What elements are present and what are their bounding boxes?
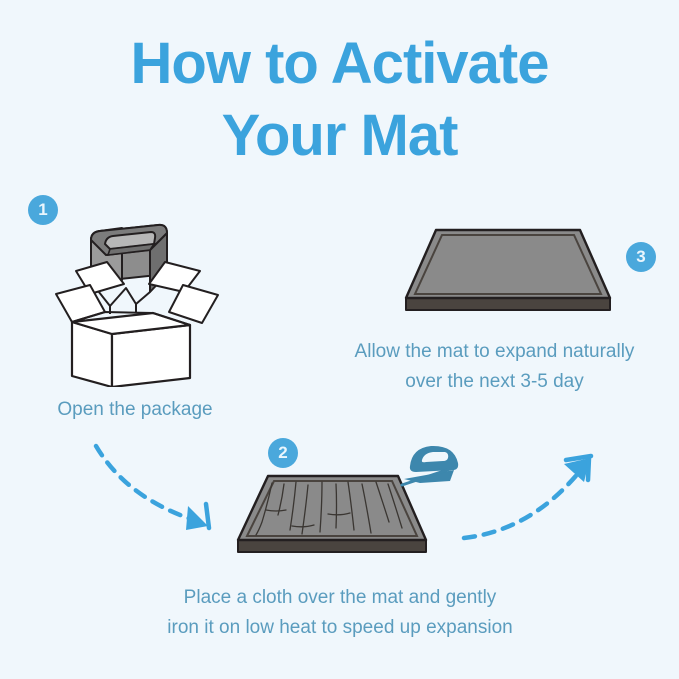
- arrow-step1-to-step2: [88, 438, 228, 553]
- title-line-1: How to Activate: [0, 28, 679, 100]
- step-2-caption-line-2: iron it on low heat to speed up expansio…: [80, 613, 600, 643]
- expanded-mat-illustration: [398, 222, 618, 327]
- step-badge-1: 1: [28, 195, 58, 225]
- step-badge-3: 3: [626, 242, 656, 272]
- open-box-illustration: [50, 222, 220, 392]
- box-body: [72, 312, 190, 387]
- step-3-caption-line-1: Allow the mat to expand naturally: [310, 337, 679, 367]
- arrow-step2-to-step3: [458, 438, 608, 553]
- step-2-caption: Place a cloth over the mat and gently ir…: [80, 583, 600, 643]
- infographic-canvas: How to Activate Your Mat 1 2 3: [0, 0, 679, 679]
- step-1-caption: Open the package: [0, 395, 270, 425]
- step-3-caption: Allow the mat to expand naturally over t…: [310, 337, 679, 397]
- step-2-caption-line-1: Place a cloth over the mat and gently: [80, 583, 600, 613]
- page-title: How to Activate Your Mat: [0, 28, 679, 172]
- step-3-caption-line-2: over the next 3-5 day: [310, 367, 679, 397]
- step-badge-2: 2: [268, 438, 298, 468]
- title-line-2: Your Mat: [0, 100, 679, 172]
